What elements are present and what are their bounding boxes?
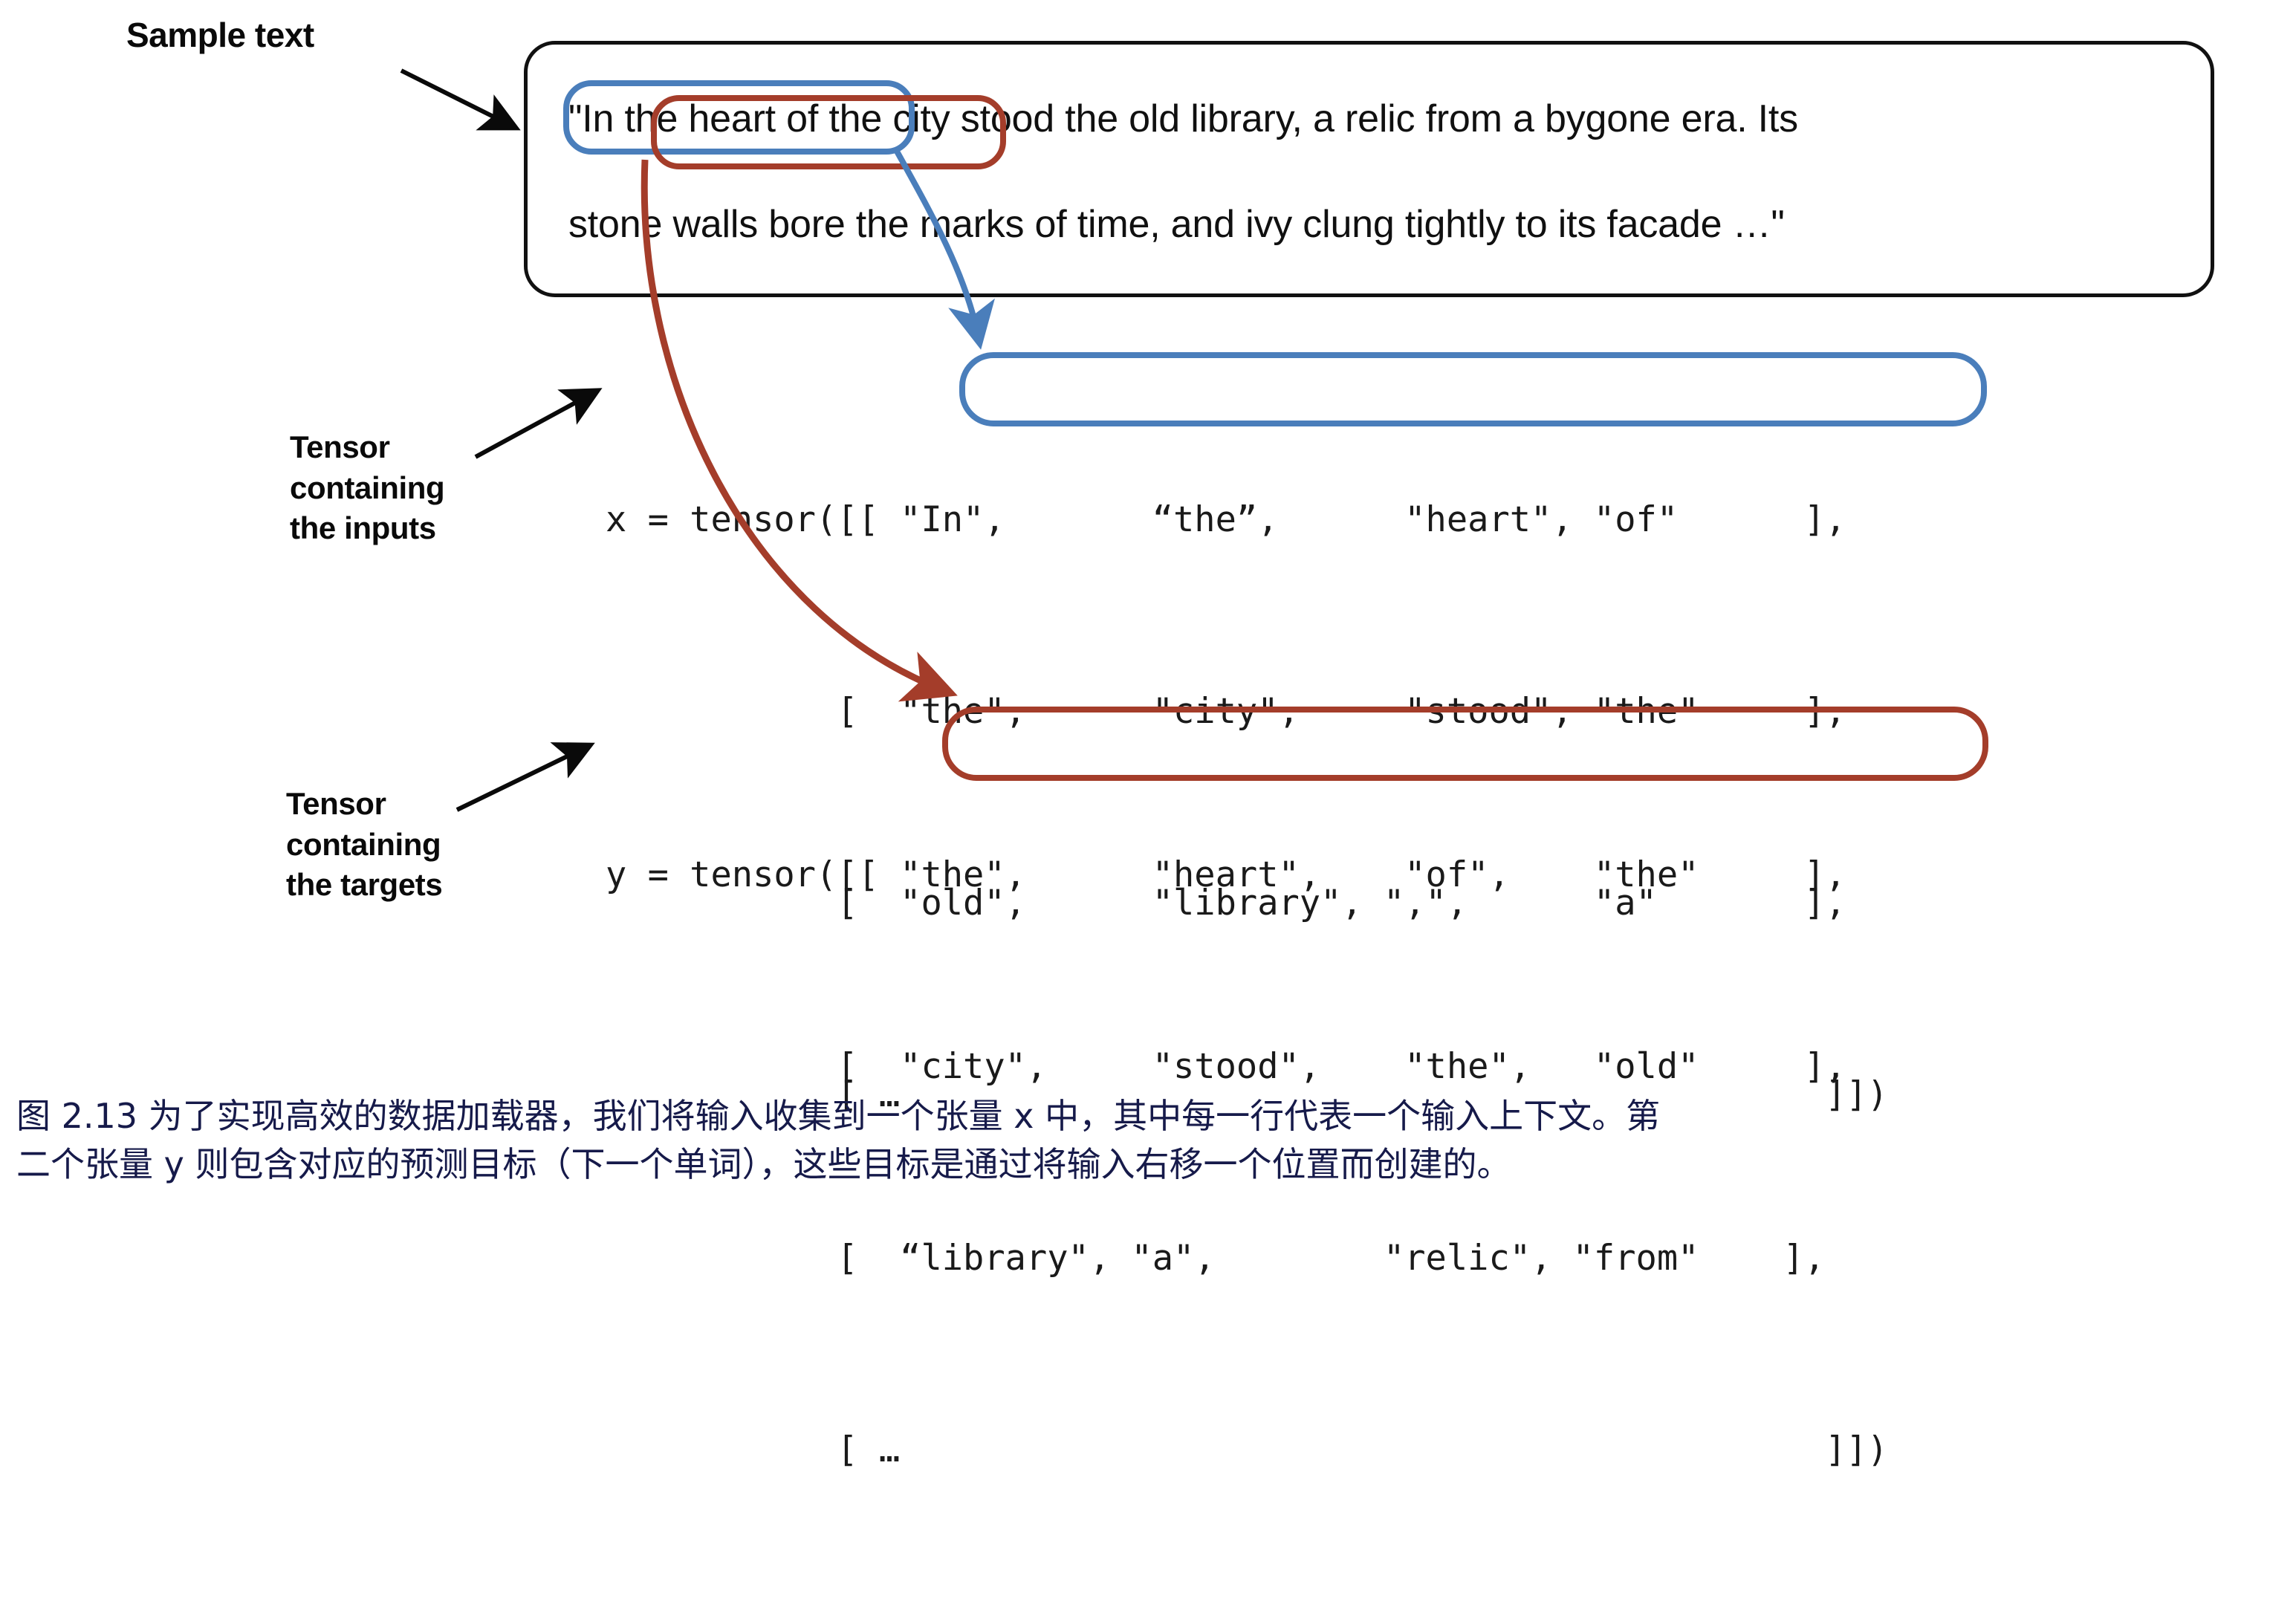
sample-text-arrow	[401, 71, 513, 126]
sample-text-label: Sample text	[126, 15, 314, 55]
sample-text-box	[524, 41, 2214, 297]
caption-line-2: 二个张量 y 则包含对应的预测目标（下一个单词），这些目标是通过将输入右移一个位…	[16, 1140, 2280, 1189]
tensor-inputs-label: Tensor containing the inputs	[290, 427, 444, 549]
y-tensor-line-0: y = tensor([[ "the", "heart", "of", "the…	[606, 843, 1888, 907]
targets-label-arrow	[457, 747, 587, 810]
y-tensor-line-3: [ … ]])	[606, 1418, 1888, 1482]
sample-text-line-1: "In the heart of the city stood the old …	[568, 97, 1798, 141]
y-tensor-line-2: [ “library", "a", "relic", "from" ],	[606, 1227, 1888, 1291]
figure-canvas: Sample text "In the heart of the city st…	[0, 0, 2296, 1239]
figure-caption: 图 2.13 为了实现高效的数据加载器，我们将输入收集到一个张量 x 中，其中每…	[16, 1092, 2280, 1189]
inputs-label-arrow	[476, 392, 594, 457]
sample-text-line-2: stone walls bore the marks of time, and …	[568, 202, 1785, 247]
x-tensor-line-0: x = tensor([[ "In", “the”, "heart", "of"…	[606, 488, 1888, 552]
caption-line-1: 图 2.13 为了实现高效的数据加载器，我们将输入收集到一个张量 x 中，其中每…	[16, 1092, 2280, 1140]
tensor-targets-label: Tensor containing the targets	[286, 784, 442, 906]
y-tensor-line-1: [ "city", "stood", "the", "old" ],	[606, 1035, 1888, 1099]
